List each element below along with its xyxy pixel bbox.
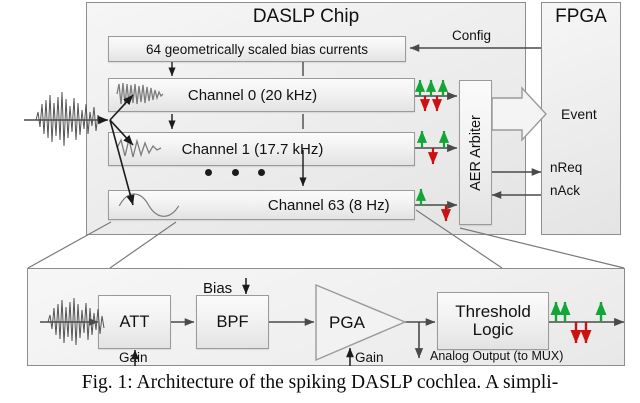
input-fanout-connectors [110, 95, 133, 205]
channel-63-spike-output [415, 189, 457, 221]
channel-1-spike-output [415, 131, 457, 164]
figure-caption: Fig. 1: Architecture of the spiking DASL… [0, 372, 640, 394]
bias-distribution-lines [172, 62, 303, 186]
pga-label: PGA [329, 313, 366, 332]
pga-amplifier-block: PGA [316, 285, 405, 360]
detail-expansion-guides [28, 210, 624, 268]
figure-architecture-diagram: DASLP Chip FPGA 64 geometrically scaled … [0, 0, 640, 403]
threshold-spike-output [549, 302, 624, 343]
aer-bus-arrow [492, 88, 546, 140]
input-audio-waveform-icon [24, 92, 108, 146]
detail-input-waveform-icon [40, 298, 104, 345]
channel-0-spike-output [415, 80, 457, 111]
diagram-vector-overlay: PGA [0, 0, 640, 403]
